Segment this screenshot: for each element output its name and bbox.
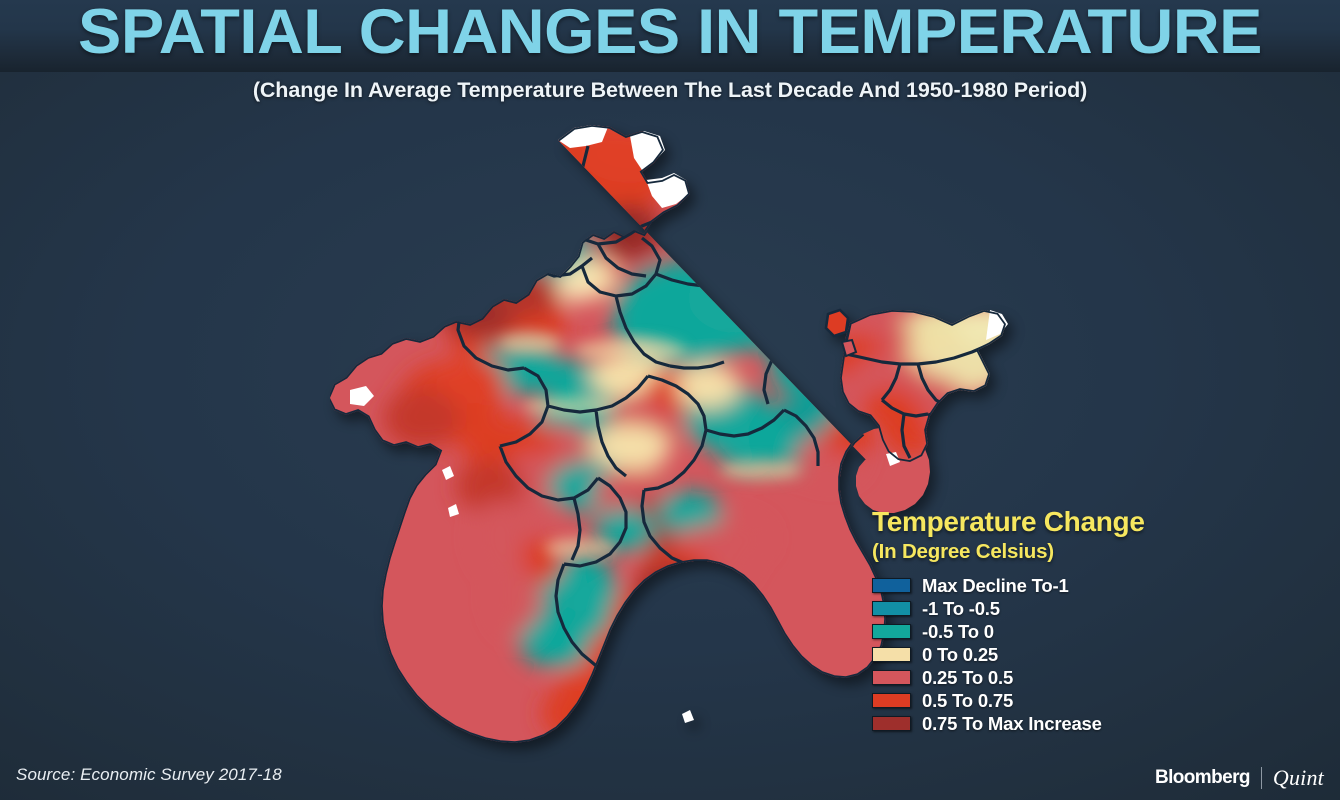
page-subtitle: (Change In Average Temperature Between T… — [0, 78, 1340, 103]
legend-items: Max Decline To-1-1 To -0.5-0.5 To 00 To … — [872, 574, 1192, 735]
legend-row: -1 To -0.5 — [872, 597, 1192, 620]
legend-label: 0.25 To 0.5 — [922, 667, 1013, 689]
legend-label: 0 To 0.25 — [922, 644, 998, 666]
legend-row: 0.25 To 0.5 — [872, 666, 1192, 689]
legend-swatch — [872, 578, 911, 593]
legend-title: Temperature Change — [872, 505, 1192, 539]
legend-label: -1 To -0.5 — [922, 598, 1000, 620]
brand-logo: Bloomberg Quint — [1155, 766, 1324, 790]
legend-label: 0.75 To Max Increase — [922, 713, 1102, 735]
legend-row: 0.75 To Max Increase — [872, 712, 1192, 735]
legend-row: 0 To 0.25 — [872, 643, 1192, 666]
brand-bloomberg: Bloomberg — [1155, 767, 1250, 789]
legend-swatch — [872, 601, 911, 616]
infographic-canvas: SPATIAL CHANGES IN TEMPERATURE (Change I… — [0, 0, 1340, 800]
header-band: SPATIAL CHANGES IN TEMPERATURE — [0, 0, 1340, 72]
legend-swatch — [872, 624, 911, 639]
legend-row: Max Decline To-1 — [872, 574, 1192, 597]
brand-divider — [1261, 767, 1262, 789]
legend-label: -0.5 To 0 — [922, 621, 994, 643]
legend-row: -0.5 To 0 — [872, 620, 1192, 643]
map-sikkim — [826, 310, 848, 336]
legend-swatch — [872, 670, 911, 685]
map-legend: Temperature Change (In Degree Celsius) M… — [872, 505, 1192, 735]
map-northeast — [820, 298, 1040, 488]
page-title: SPATIAL CHANGES IN TEMPERATURE — [0, 0, 1340, 68]
legend-label: Max Decline To-1 — [922, 575, 1069, 597]
legend-label: 0.5 To 0.75 — [922, 690, 1013, 712]
brand-quint: Quint — [1273, 765, 1324, 791]
source-note: Source: Economic Survey 2017-18 — [16, 765, 282, 785]
legend-subtitle: (In Degree Celsius) — [872, 539, 1192, 565]
legend-row: 0.5 To 0.75 — [872, 689, 1192, 712]
legend-swatch — [872, 647, 911, 662]
legend-swatch — [872, 716, 911, 731]
legend-swatch — [872, 693, 911, 708]
